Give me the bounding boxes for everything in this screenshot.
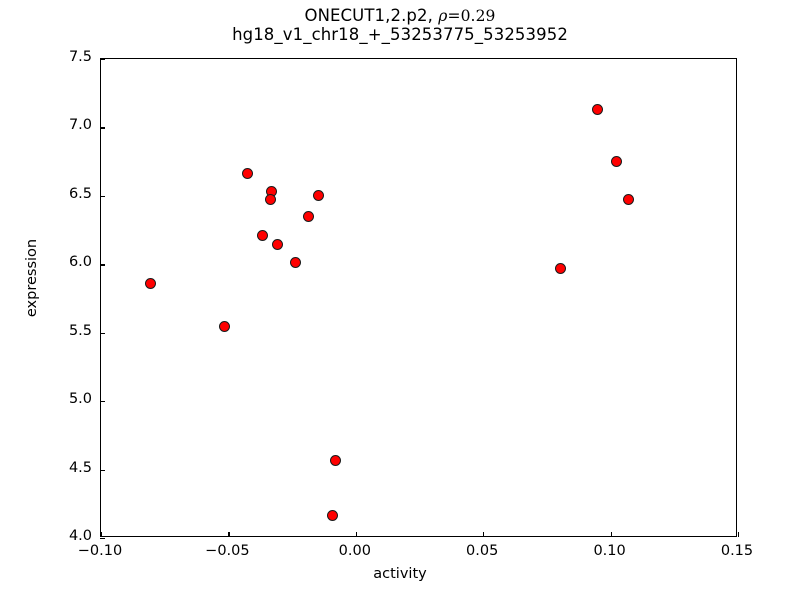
scatter-point (145, 278, 156, 289)
y-axis-tick (100, 538, 105, 539)
y-axis-tick (100, 264, 105, 265)
figure-canvas: ONECUT1,2.p2, ρ=0.29 hg18_v1_chr18_+_532… (0, 0, 800, 600)
scatter-plot-area (101, 59, 736, 536)
y-axis-tick (100, 127, 105, 128)
x-axis-tick (356, 532, 357, 537)
y-axis-tick-label: 7.5 (36, 49, 92, 65)
x-axis-tick-label: 0.15 (692, 543, 782, 559)
x-axis-tick (738, 532, 739, 537)
x-axis-tick (483, 532, 484, 537)
y-axis-tick-label: 5.5 (36, 323, 92, 339)
y-axis-tick-label: 4.0 (36, 528, 92, 544)
chart-title: ONECUT1,2.p2, ρ=0.29 hg18_v1_chr18_+_532… (0, 6, 800, 45)
scatter-point (303, 211, 314, 222)
y-axis-tick-label: 4.5 (36, 460, 92, 476)
y-axis-tick-label: 7.0 (36, 117, 92, 133)
y-axis-tick (100, 59, 105, 60)
chart-title-line2: hg18_v1_chr18_+_53253775_53253952 (0, 25, 800, 44)
x-axis-tick (611, 532, 612, 537)
title-motif-label: ONECUT1,2.p2, (305, 6, 439, 25)
rho-symbol: ρ (438, 7, 447, 25)
y-axis-tick (100, 333, 105, 334)
y-axis-tick (100, 401, 105, 402)
y-axis-tick-label: 5.0 (36, 391, 92, 407)
x-axis-tick (228, 532, 229, 537)
scatter-point (327, 510, 338, 521)
y-axis-tick (100, 196, 105, 197)
scatter-point (623, 194, 634, 205)
scatter-point (219, 321, 230, 332)
scatter-point (242, 168, 253, 179)
x-axis-tick-label: 0.00 (310, 543, 400, 559)
x-axis-tick-label: 0.05 (437, 543, 527, 559)
scatter-point (592, 104, 603, 115)
y-axis-tick-label: 6.5 (36, 186, 92, 202)
rho-value: =0.29 (448, 7, 496, 25)
scatter-point (272, 239, 283, 250)
scatter-point (313, 190, 324, 201)
x-axis-tick-label: −0.05 (182, 543, 272, 559)
scatter-point (265, 194, 276, 205)
x-axis-tick-label: 0.10 (565, 543, 655, 559)
scatter-point (257, 230, 268, 241)
scatter-point (290, 257, 301, 268)
scatter-point (611, 156, 622, 167)
scatter-point (330, 455, 341, 466)
y-axis-label: expression (24, 178, 40, 378)
x-axis-tick-label: −0.10 (55, 543, 145, 559)
plot-axes-frame (100, 58, 737, 537)
x-axis-tick (101, 532, 102, 537)
x-axis-label: activity (0, 566, 800, 582)
y-axis-tick-label: 6.0 (36, 254, 92, 270)
scatter-point (555, 263, 566, 274)
y-axis-tick (100, 470, 105, 471)
chart-title-line1: ONECUT1,2.p2, ρ=0.29 (0, 6, 800, 25)
